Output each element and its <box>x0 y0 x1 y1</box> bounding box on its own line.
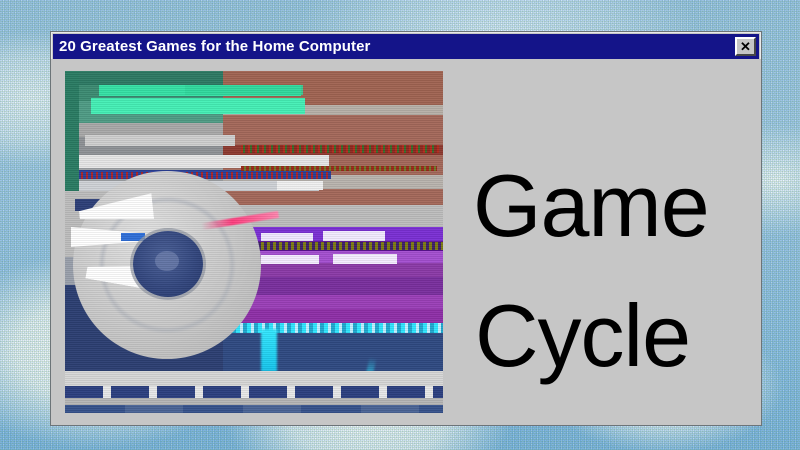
photo-caption-box-3 <box>323 231 385 241</box>
headline-line-1: Game <box>473 163 709 249</box>
photo-green-spine-2 <box>91 98 305 114</box>
photo-shelf-edge <box>65 398 443 405</box>
photo-caption-box-1 <box>277 181 323 190</box>
desktop: 20 Greatest Games for the Home Computer … <box>0 0 800 450</box>
close-button[interactable]: ✕ <box>735 37 756 56</box>
photo-shelf-base <box>65 405 443 413</box>
headline-line-2: Cycle <box>475 293 690 379</box>
cd-rack-photograph <box>65 71 443 413</box>
headline-panel: Game Cycle <box>443 71 761 425</box>
window-title: 20 Greatest Games for the Home Computer <box>59 39 735 54</box>
close-icon: ✕ <box>740 40 751 53</box>
photo-red-text-row-2 <box>241 166 437 171</box>
application-window[interactable]: 20 Greatest Games for the Home Computer … <box>50 31 762 426</box>
photo-caption-box-4 <box>261 255 319 264</box>
photo-green-spine-3 <box>185 85 303 95</box>
disc-blue-glint <box>121 233 145 241</box>
photo-shelf-row <box>65 386 443 398</box>
disc-center-hole <box>155 251 179 271</box>
photo-green-edge <box>65 71 79 191</box>
photo-label-strip-1 <box>85 135 235 146</box>
photo-caption-box-5 <box>333 254 397 264</box>
window-titlebar[interactable]: 20 Greatest Games for the Home Computer … <box>53 34 759 59</box>
window-body: Game Cycle <box>51 59 761 425</box>
photo-caption-box-2 <box>261 233 313 241</box>
photo-red-text-row-1 <box>241 145 439 153</box>
photo-red-text-row-3 <box>81 172 329 179</box>
photo-shelf-highlight <box>65 371 443 386</box>
photo-cyan-band <box>225 323 443 333</box>
